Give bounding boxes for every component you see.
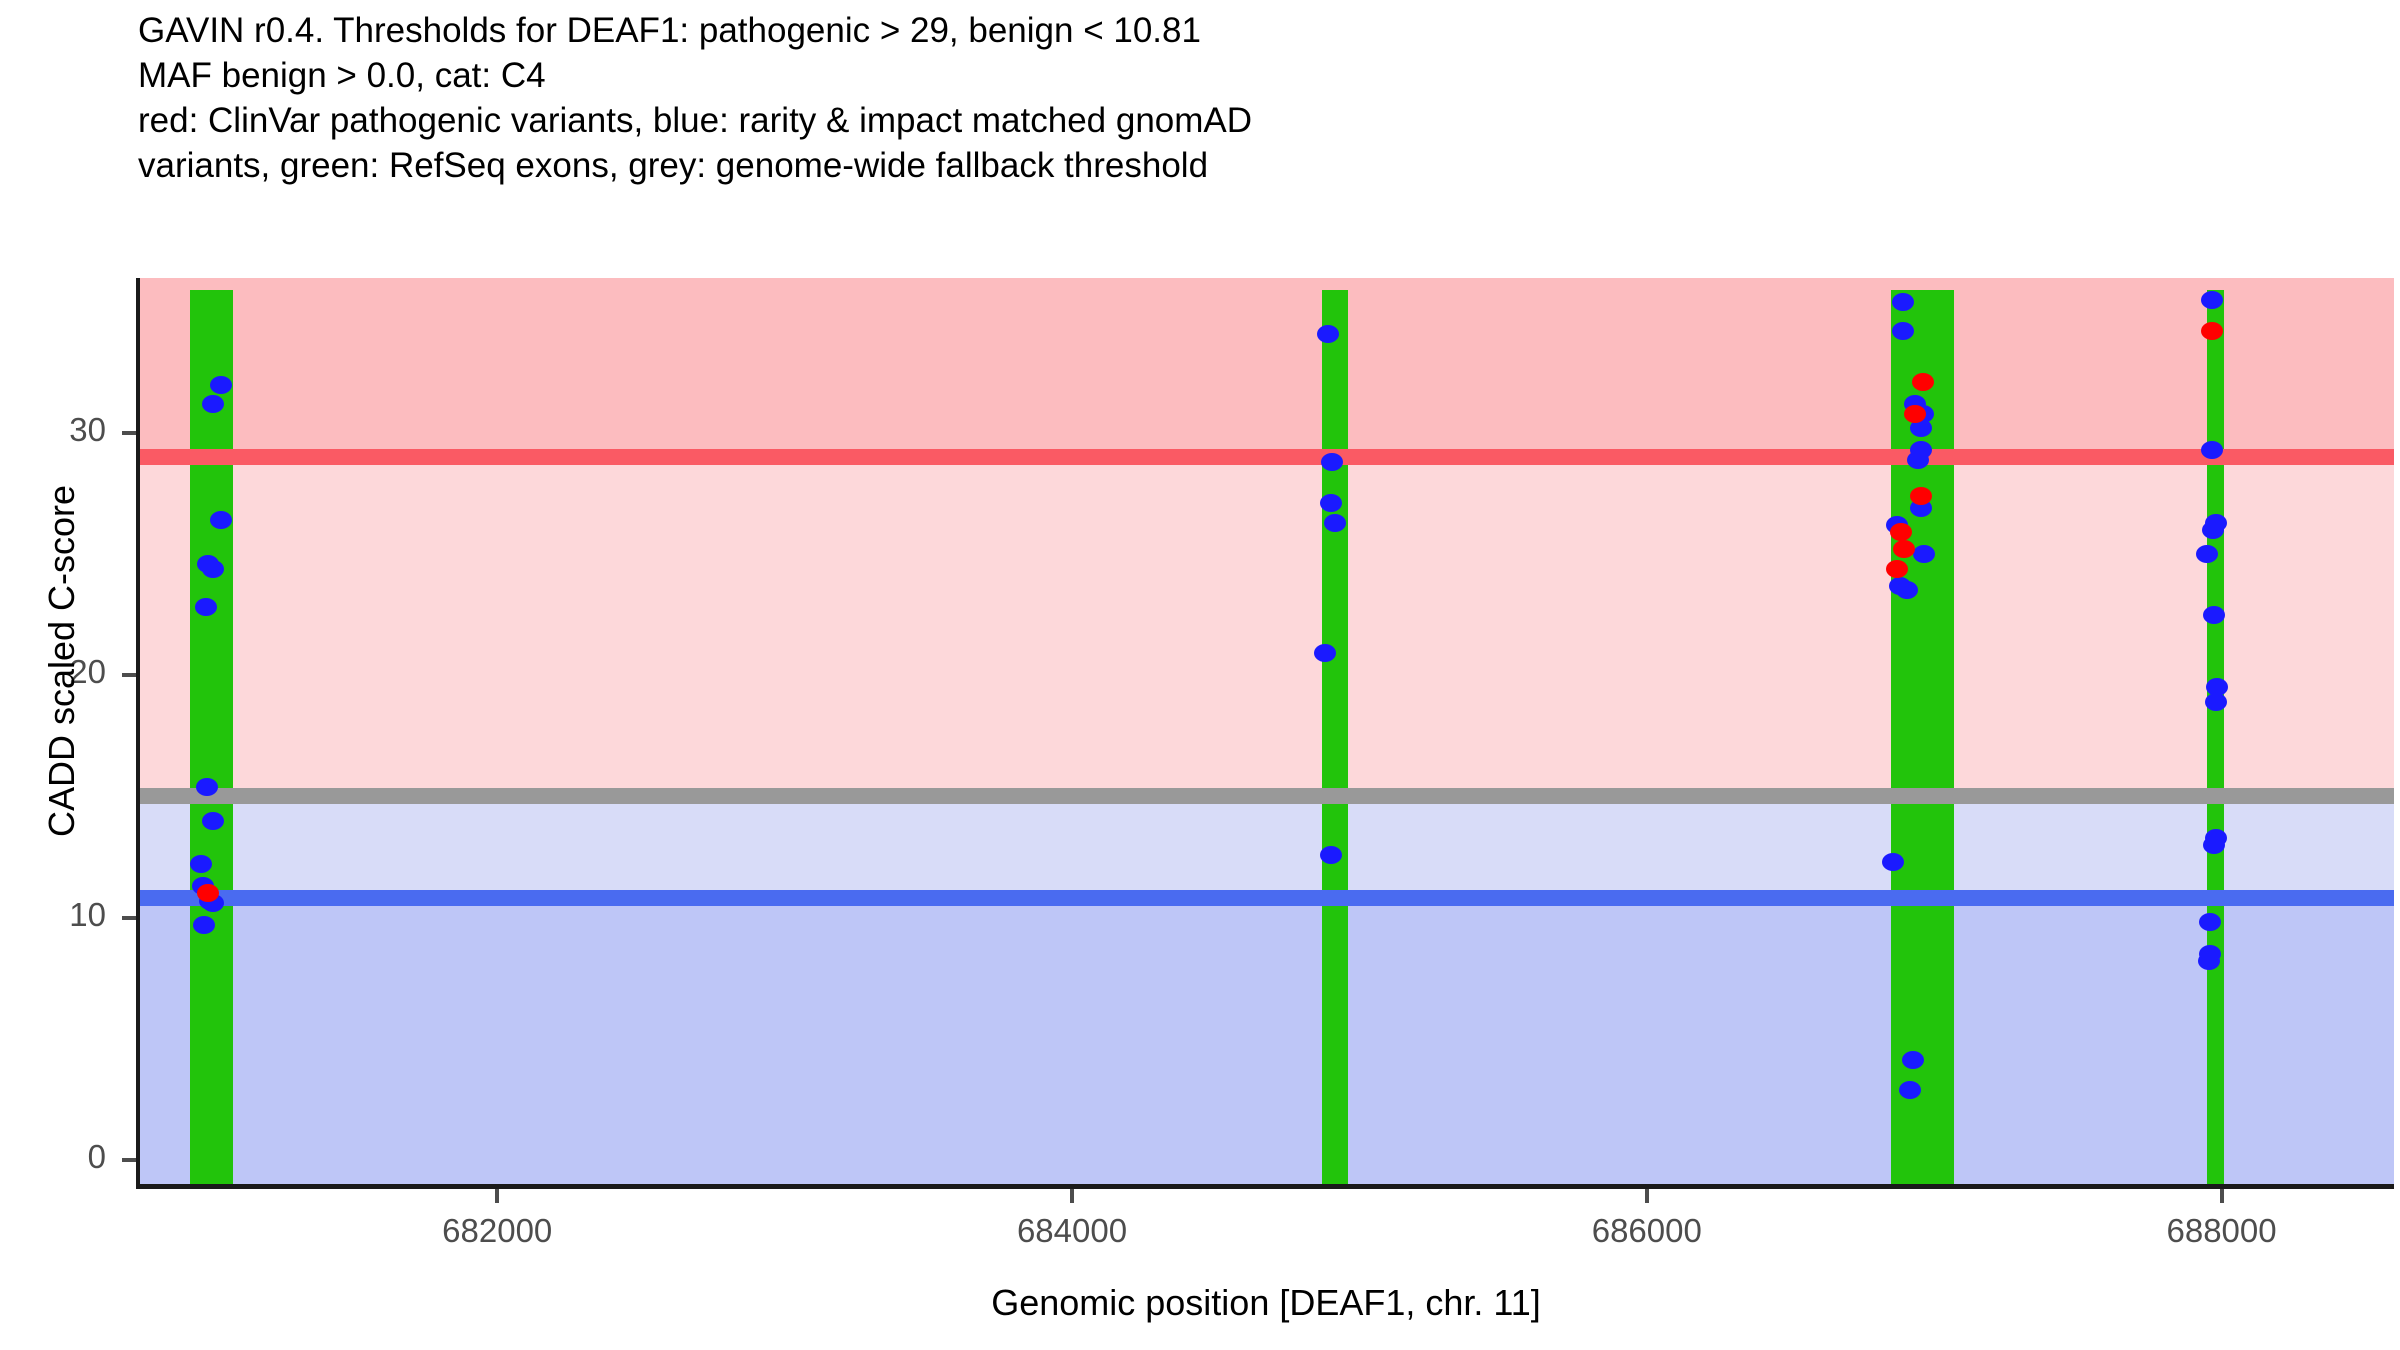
title-line-1: GAVIN r0.4. Thresholds for DEAF1: pathog…	[138, 8, 2288, 53]
x-axis-line	[136, 1184, 2394, 1189]
data-point	[2198, 952, 2220, 970]
plot-panel	[138, 278, 2394, 1184]
y-tick-mark	[122, 431, 136, 435]
data-point	[196, 778, 218, 796]
band-below-benign	[138, 905, 2394, 1184]
exon-bar-exon-2	[1322, 290, 1348, 1184]
data-point	[2201, 441, 2223, 459]
data-point	[1882, 853, 1904, 871]
data-point	[1907, 451, 1929, 469]
plot-root: GAVIN r0.4. Thresholds for DEAF1: pathog…	[0, 0, 2400, 1350]
data-point	[1320, 846, 1342, 864]
data-point	[1320, 494, 1342, 512]
y-tick-mark	[122, 673, 136, 677]
data-point	[2201, 322, 2223, 340]
data-point	[202, 395, 224, 413]
x-tick-label: 684000	[962, 1212, 1182, 1250]
y-axis-line	[136, 278, 140, 1188]
data-point	[2205, 693, 2227, 711]
data-point	[2201, 291, 2223, 309]
data-point	[1317, 325, 1339, 343]
data-point	[2203, 606, 2225, 624]
y-tick-label: 0	[0, 1138, 106, 1176]
threshold-line-genome-wide-fallback	[138, 788, 2394, 804]
data-point	[1904, 405, 1926, 423]
x-tick-mark	[1645, 1189, 1649, 1203]
y-tick-mark	[122, 916, 136, 920]
threshold-line-benign	[138, 890, 2394, 906]
exon-bar-exon-4	[2207, 290, 2224, 1184]
data-point	[1886, 560, 1908, 578]
band-above-pathogenic	[138, 278, 2394, 450]
data-point	[210, 376, 232, 394]
x-tick-label: 688000	[2112, 1212, 2332, 1250]
band-between-pathogenic-and-fallback	[138, 465, 2394, 790]
plot-title: GAVIN r0.4. Thresholds for DEAF1: pathog…	[138, 8, 2288, 188]
x-axis-title: Genomic position [DEAF1, chr. 11]	[138, 1282, 2394, 1324]
title-line-4: variants, green: RefSeq exons, grey: gen…	[138, 143, 2288, 188]
data-point	[202, 812, 224, 830]
y-axis-title: CADD scaled C-score	[41, 281, 83, 1041]
data-point	[1892, 293, 1914, 311]
x-tick-mark	[1070, 1189, 1074, 1203]
data-point	[193, 916, 215, 934]
data-point	[1892, 322, 1914, 340]
x-tick-label: 682000	[387, 1212, 607, 1250]
x-tick-mark	[2220, 1189, 2224, 1203]
data-point	[195, 598, 217, 616]
exon-bar-exon-1	[190, 290, 233, 1184]
data-point	[2202, 521, 2224, 539]
data-point	[1912, 373, 1934, 391]
title-line-3: red: ClinVar pathogenic variants, blue: …	[138, 98, 2288, 143]
title-line-2: MAF benign > 0.0, cat: C4	[138, 53, 2288, 98]
threshold-line-pathogenic	[138, 449, 2394, 465]
x-tick-label: 686000	[1537, 1212, 1757, 1250]
x-tick-mark	[495, 1189, 499, 1203]
data-point	[1324, 514, 1346, 532]
data-point	[202, 560, 224, 578]
band-between-fallback-and-benign	[138, 804, 2394, 891]
data-point	[1899, 1081, 1921, 1099]
y-tick-mark	[122, 1158, 136, 1162]
